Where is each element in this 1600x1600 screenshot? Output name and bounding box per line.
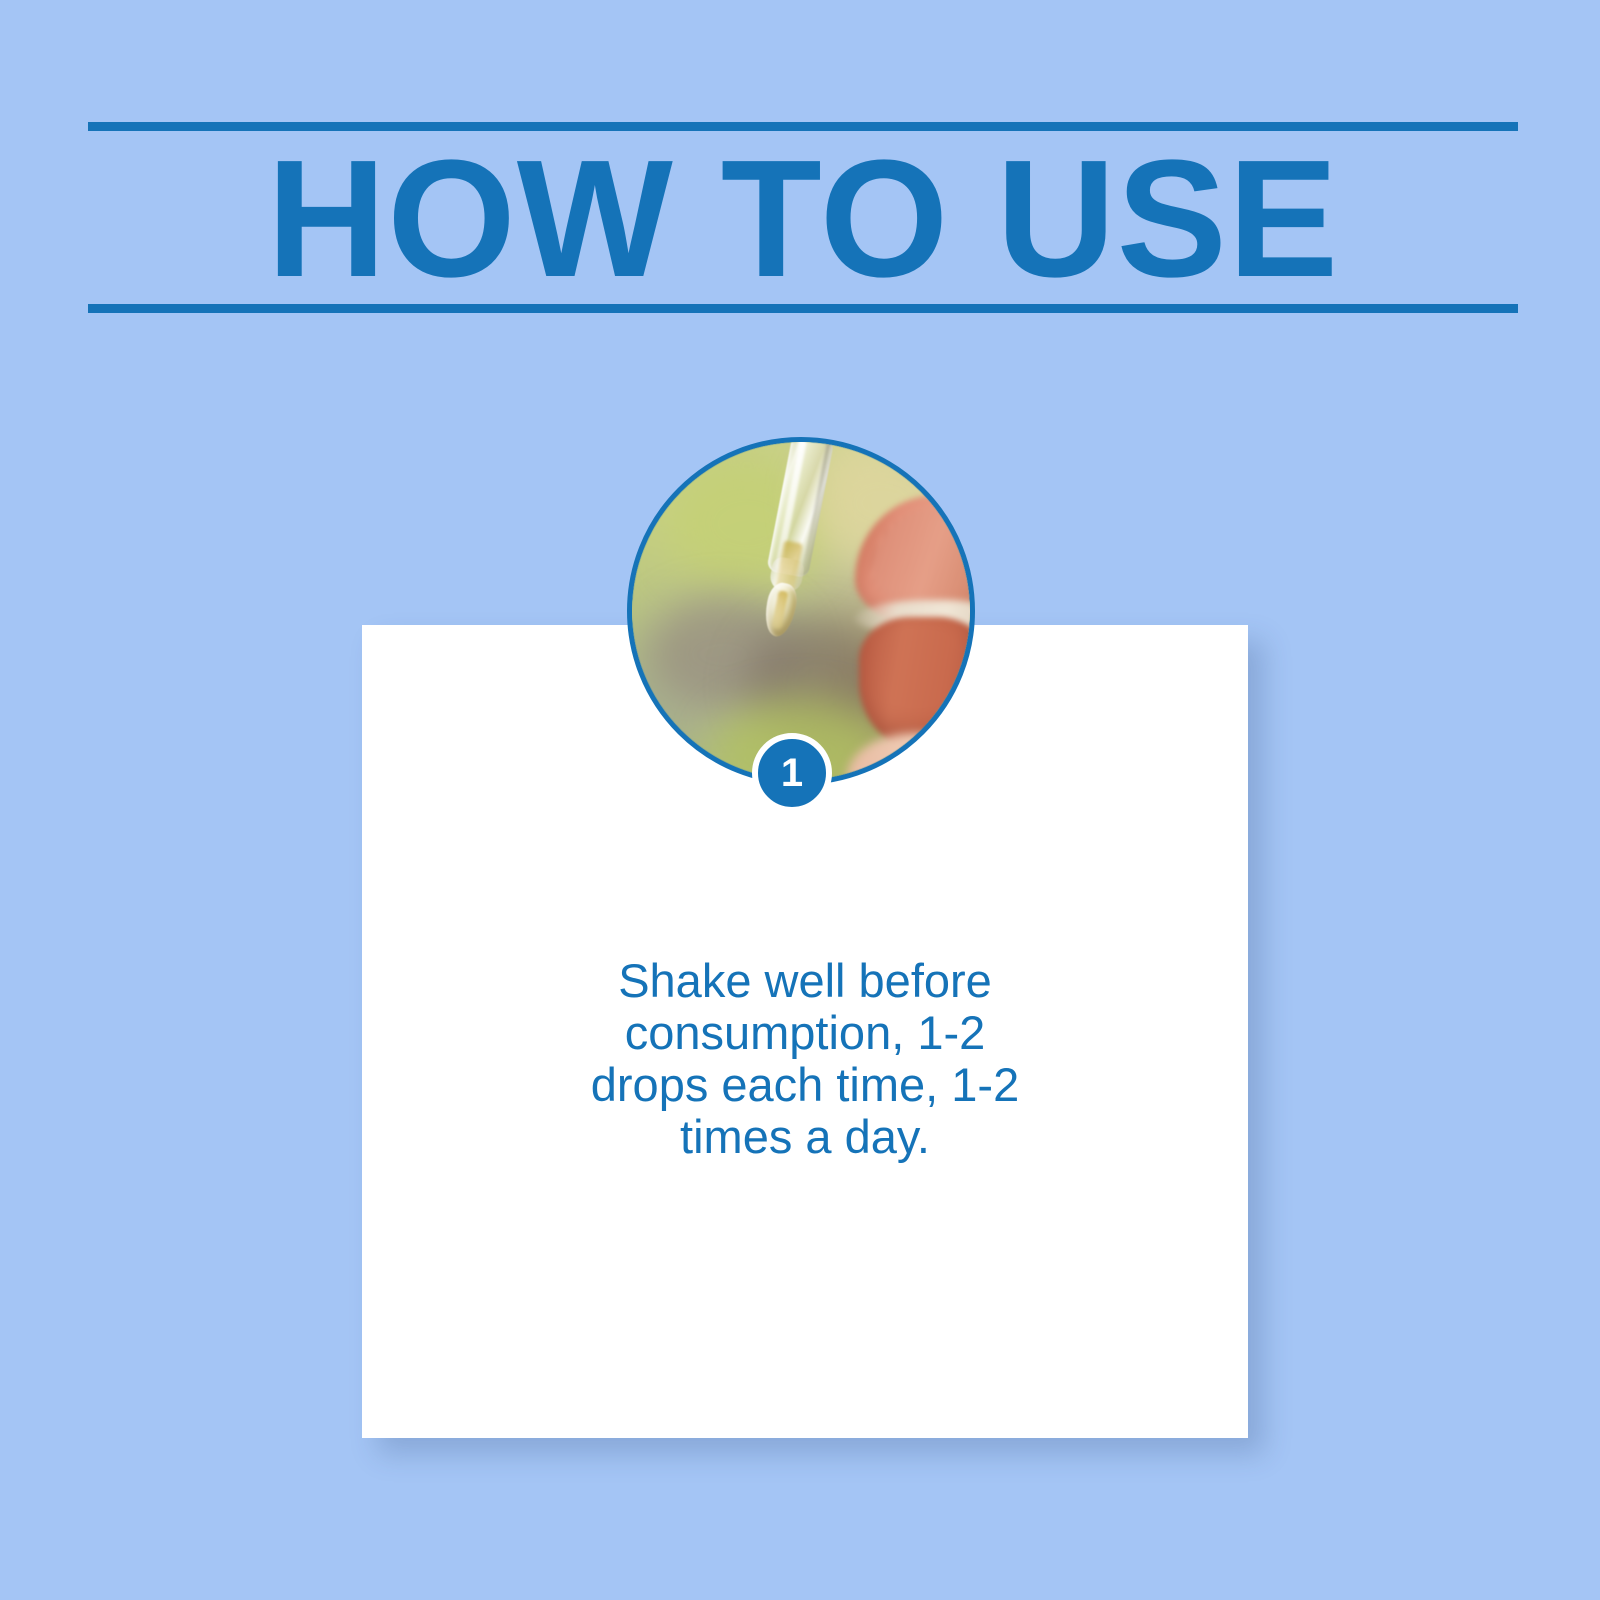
header: HOW TO USE: [88, 122, 1518, 313]
lower-lip: [859, 617, 970, 745]
step-number-badge: 1: [752, 733, 832, 813]
infographic-canvas: HOW TO USE Shake well before consumption…: [0, 0, 1600, 1600]
step-photo: [627, 437, 975, 785]
header-rule-bottom: [88, 304, 1518, 313]
chin: [847, 733, 970, 780]
photo-circle-frame: [627, 437, 975, 785]
step-number-label: 1: [781, 753, 803, 793]
dropper-photo-icon: [632, 442, 970, 780]
page-title: HOW TO USE: [95, 136, 1511, 302]
step-instruction-text: Shake well before consumption, 1-2 drops…: [362, 955, 1248, 1163]
